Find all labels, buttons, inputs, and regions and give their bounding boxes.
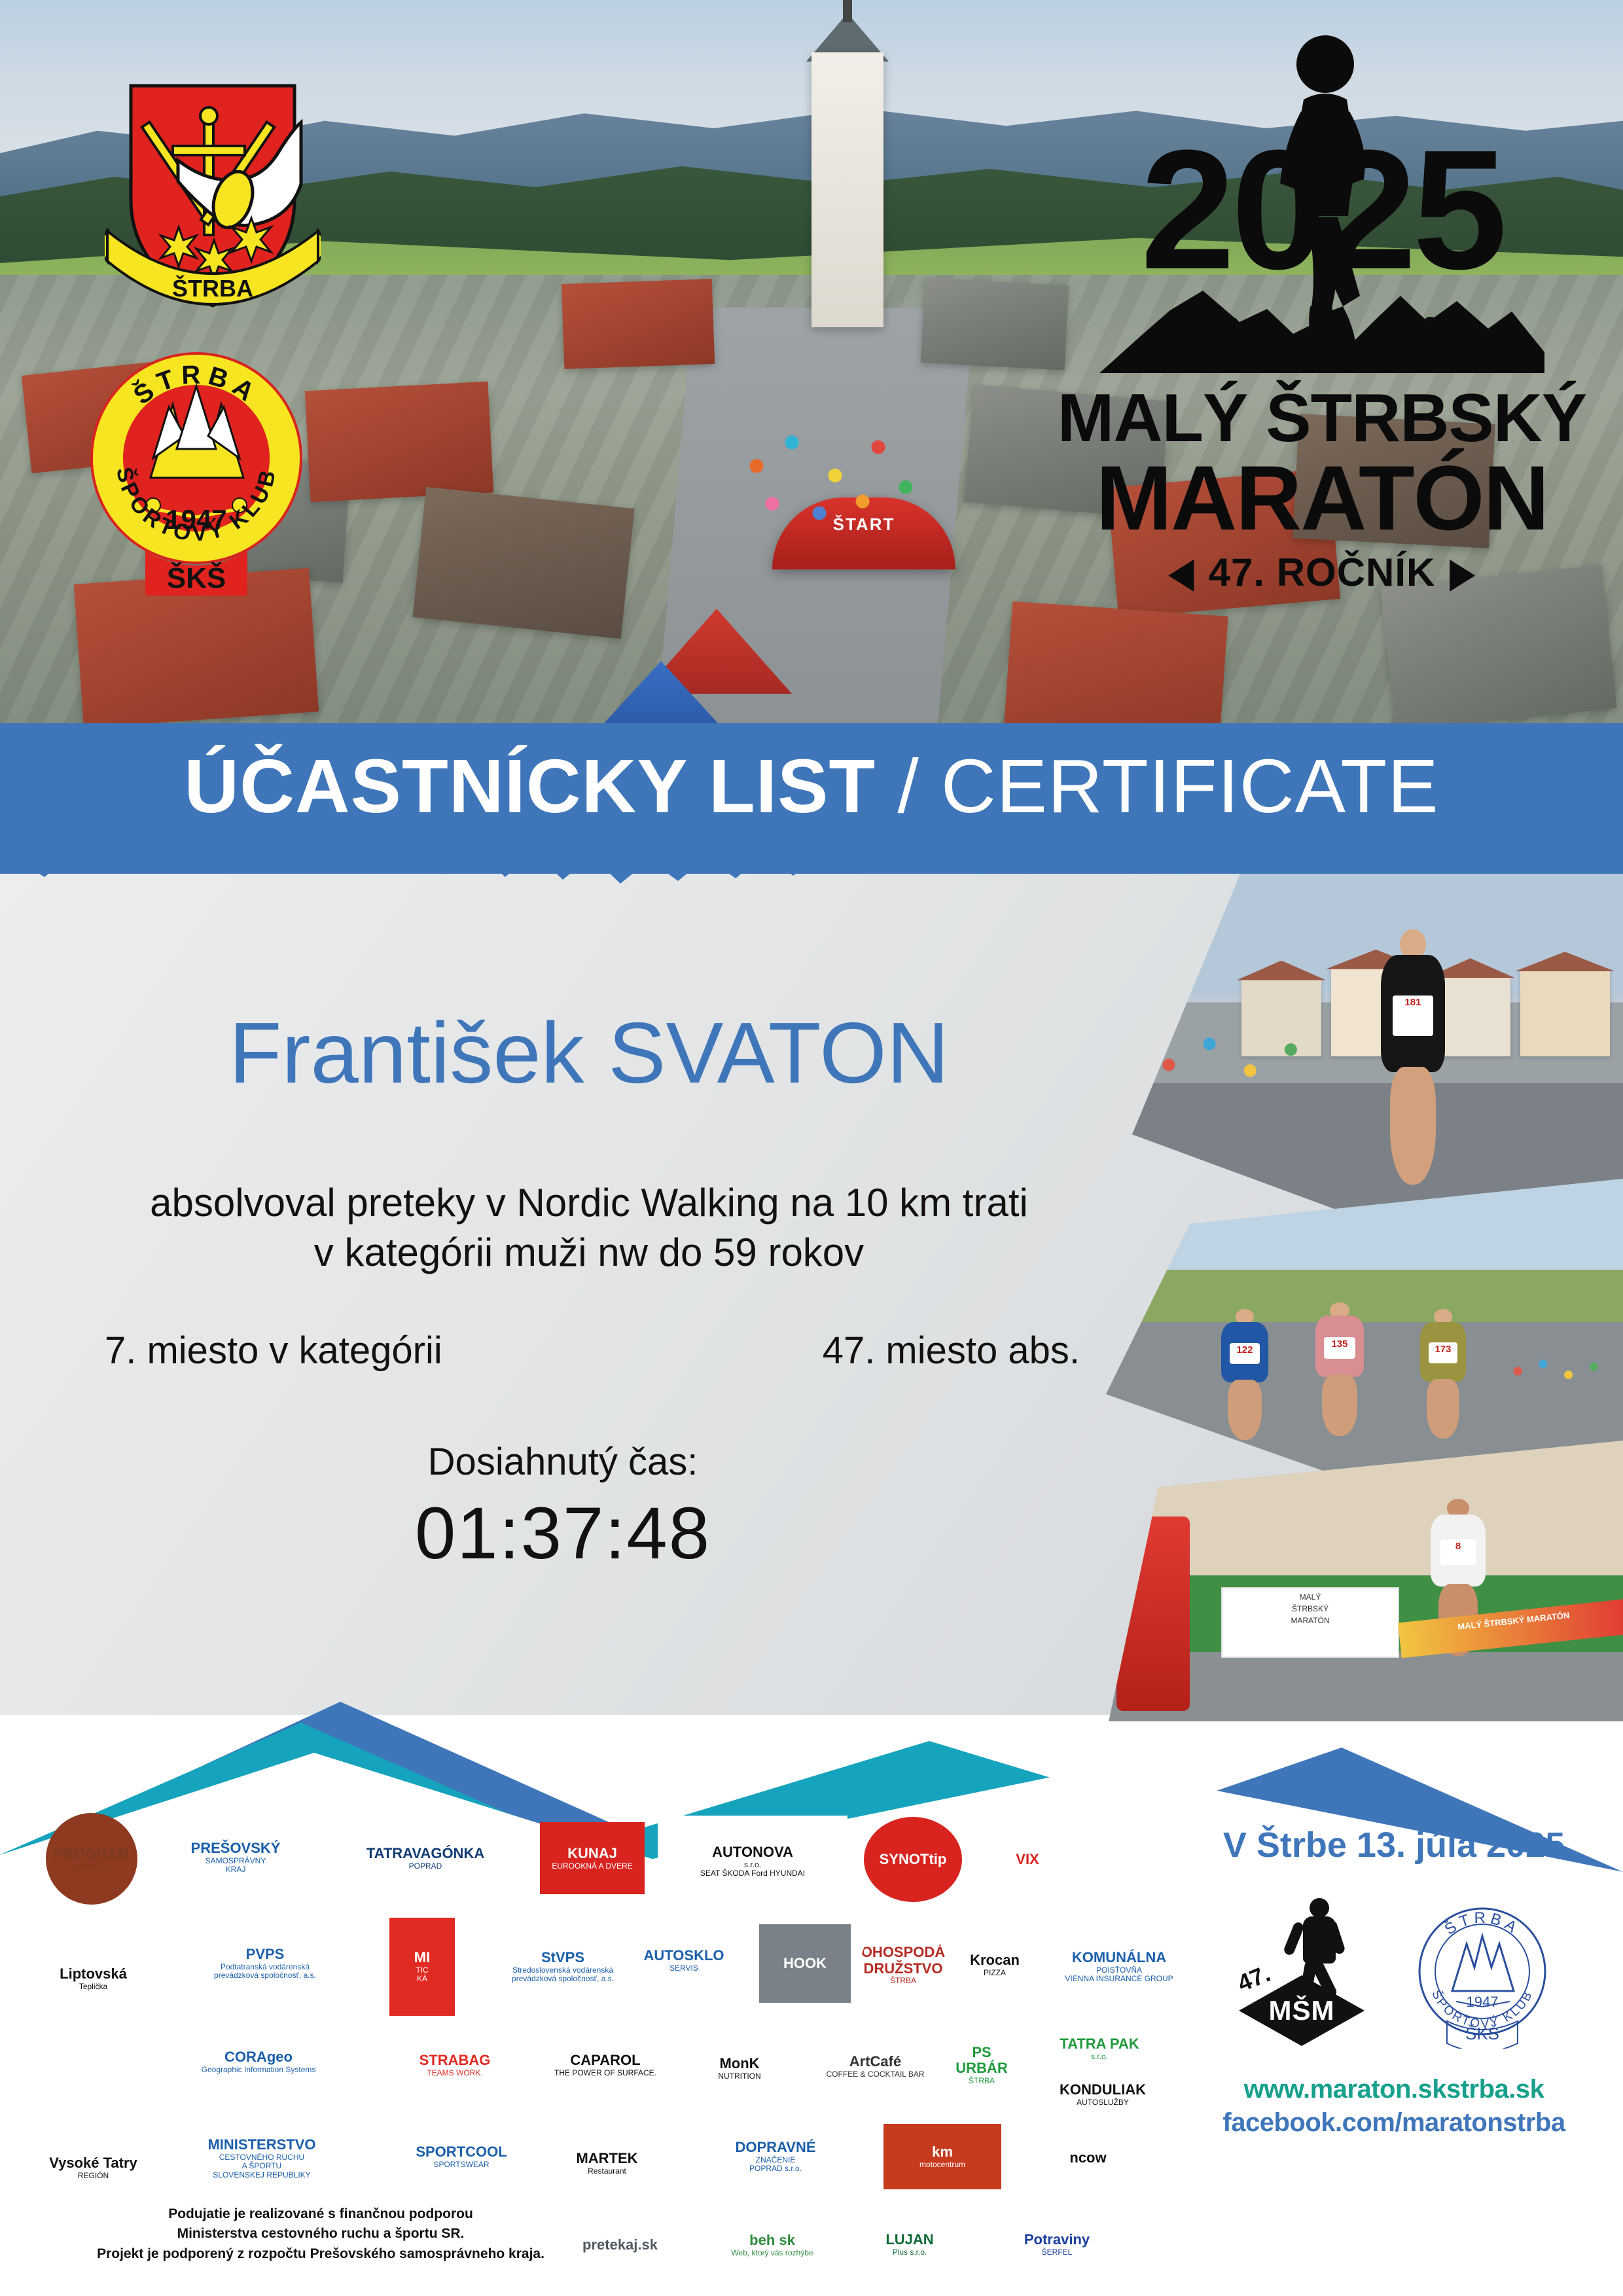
certificate-page: ŠTRBA 1947 ŠTRBA ŠPORTOVÝ KLUB ŠKŠ xyxy=(0,0,1623,2296)
sponsor-label-line: PIZZA xyxy=(970,1969,1020,1977)
photo2-runner-a: 122 xyxy=(1221,1309,1268,1440)
sponsor-label: KrocanPIZZA xyxy=(970,1952,1020,1977)
sponsor-logo-pretekaj-sk: pretekaj.sk xyxy=(550,2219,690,2271)
sponsor-logo-krocan-pizza: KrocanPIZZA xyxy=(952,1921,1037,2009)
sks-stamp-logo: 1947 ŠTRBA ŠPORTOVÝ KLUB ŠKŠ xyxy=(1410,1898,1554,2049)
finish-time-value: 01:37:48 xyxy=(79,1491,1047,1575)
photo3-banner-line3: MARATÓN xyxy=(1222,1615,1398,1626)
event-place-date: V Štrbe 13. júla 2025 xyxy=(1185,1825,1603,1865)
sponsor-label-line: MI xyxy=(414,1950,430,1966)
sponsor-label-line: motocentrum xyxy=(919,2161,965,2169)
sport-club-abbr: ŠKŠ xyxy=(167,561,226,594)
sponsor-label: PREŠOVSKÝSAMOSPRÁVNYKRAJ xyxy=(191,1840,281,1874)
sponsor-label: TATRA PAKs.r.o. xyxy=(1060,2036,1139,2061)
sponsor-label-line: STRABAG xyxy=(419,2053,491,2069)
sponsor-label-line: DOPRAVNÉ xyxy=(735,2140,815,2156)
sponsor-logo-ps-urbar-strba: PS URBÁRŠTRBA xyxy=(946,2022,1018,2108)
sponsor-label-line: POPRAD xyxy=(366,1862,484,1871)
sponsor-label: MonKNUTRITION xyxy=(718,2056,760,2081)
sponsor-logo-pd-strba: POĽNOHOSPODÁRSKE DRUŽSTVOŠTRBA xyxy=(861,1921,946,2009)
photo1-spectators xyxy=(1152,1017,1321,1113)
sponsor-label-line: Podtatranská vodárenská xyxy=(214,1963,316,1971)
sponsor-label-line: SAMOSPRÁVNY xyxy=(191,1857,281,1865)
photo3-banner-line2: ŠTRBSKÝ xyxy=(1222,1603,1398,1615)
sponsor-logo-program-trencin: PROGRAMTRENČÍN xyxy=(46,1813,137,1905)
sponsor-logo-tatrapak: TATRA PAKs.r.o. xyxy=(1034,2026,1165,2072)
sponsor-logo-presovsky-kraj: PREŠOVSKÝSAMOSPRÁVNYKRAJ xyxy=(154,1818,317,1897)
sponsor-logo-vix: VIX xyxy=(975,1817,1080,1902)
sponsor-logo-potraviny-serfel: PotravinyŠERFEL xyxy=(982,2214,1132,2276)
footer-right-column: V Štrbe 13. júla 2025 47. MŠM xyxy=(1185,1813,1603,2238)
sponsor-label-line: AUTONOVA xyxy=(700,1844,805,1861)
sponsor-label-line: PS URBÁR xyxy=(946,2045,1018,2077)
certificate-title-en: CERTIFICATE xyxy=(941,744,1439,829)
sponsor-label-line: pretekaj.sk xyxy=(582,2237,658,2253)
sponsor-label-line: SERVIS xyxy=(643,1964,724,1973)
sponsor-label: MITICKÁ xyxy=(414,1950,430,1984)
disclaimer-line2: Ministerstva cestovného ruchu a športu S… xyxy=(92,2224,550,2244)
sponsor-logo-martek-restaurant: MARTEKRestaurant xyxy=(550,2117,664,2209)
sponsor-label-line: KUNAJ xyxy=(552,1846,632,1862)
sponsor-label-line: KRAJ xyxy=(191,1865,281,1874)
sponsor-label: SPORTCOOLSPORTSWEAR xyxy=(416,2144,507,2169)
category-place: 7. miesto v kategórii xyxy=(105,1329,442,1372)
sponsor-label: VIX xyxy=(1016,1852,1039,1868)
sponsor-label-line: NUTRITION xyxy=(718,2072,760,2081)
sponsor-label: MARTEKRestaurant xyxy=(576,2151,637,2176)
sponsor-label-line: AUTOSKLO xyxy=(643,1948,724,1964)
sponsor-label-line: KÁ xyxy=(414,1975,430,1983)
sponsor-label: PVPSPodtatranská vodárenskáprevádzková s… xyxy=(214,1946,316,1981)
sponsor-label: DOPRAVNÉZNAČENIEPOPRAD s.r.o. xyxy=(735,2140,815,2174)
sponsor-label: AUTOSKLOSERVIS xyxy=(643,1948,724,1973)
sponsor-label-line: TEAMS WORK. xyxy=(419,2069,491,2077)
sponsor-label-line: ŠTRBA xyxy=(861,1977,946,1985)
sponsor-label-line: AUTOSLUŽBY xyxy=(1060,2098,1146,2107)
sponsor-label-line: THE POWER OF SURFACE. xyxy=(554,2069,656,2077)
hero-roof xyxy=(1003,601,1228,740)
sponsor-logo-liptovska-teplicka: LiptovskáTeplička xyxy=(46,1916,141,2041)
event-facebook[interactable]: facebook.com/maratonstrba xyxy=(1185,2108,1603,2138)
event-website[interactable]: www.maraton.skstrba.sk xyxy=(1185,2075,1603,2104)
event-name-line2: MARATÓN xyxy=(1054,445,1590,551)
sponsor-logo-miticka: MITICKÁ xyxy=(389,1918,455,2016)
sks-abbr: ŠKŠ xyxy=(1465,2024,1499,2043)
sponsor-logo-autonova: AUTONOVAs.r.o.SEAT ŠKODA Ford HYUNDAI xyxy=(658,1816,847,1907)
sponsor-label-line: TATRA PAK xyxy=(1060,2036,1139,2053)
strba-ribbon-label: ŠTRBA xyxy=(172,274,253,302)
sponsor-label-line: A ŠPORTU xyxy=(207,2162,315,2170)
certificate-description-line2: v kategórii muži nw do 59 rokov xyxy=(79,1228,1099,1278)
event-edition: ◀ 47. ROČNÍK ▶ xyxy=(1054,550,1590,596)
sponsor-label-line: SYNOTtip xyxy=(880,1852,947,1868)
photo3-banner-line1: MALÝ xyxy=(1222,1591,1398,1603)
sponsor-label-line: Liptovská xyxy=(60,1966,127,1982)
sponsor-logo-corageo: CORAgeoGeographic Information Systems xyxy=(154,2022,363,2101)
photo2-runner-c: 173 xyxy=(1420,1309,1466,1439)
msm-logo: 47. MŠM xyxy=(1234,1898,1371,2049)
sponsor-label-line: ArtCafé xyxy=(826,2054,924,2070)
sponsor-logo-pvps: PVPSPodtatranská vodárenskáprevádzková s… xyxy=(154,1924,376,2003)
sponsor-logo-kunaj: KUNAJEUROOKNÁ A DVERE xyxy=(540,1822,645,1894)
sponsor-logo-beh-sk: beh skWeb, ktorý vás rozhýbe xyxy=(707,2219,838,2271)
sponsor-label: LUJANPlus s.r.o. xyxy=(885,2232,933,2257)
sponsor-label: PotravinyŠERFEL xyxy=(1024,2232,1090,2257)
sponsor-label: ArtCaféCOFFEE & COCKTAIL BAR xyxy=(826,2054,924,2079)
sponsor-label-line: MINISTERSTVO xyxy=(207,2137,315,2153)
sponsor-label-line: LUJAN xyxy=(885,2232,933,2248)
sponsor-label-line: SPORTSWEAR xyxy=(416,2161,507,2169)
sponsor-label-line: KONDULIAK xyxy=(1060,2082,1146,2098)
sponsor-logo-ministerstvo-sr: MINISTERSTVOCESTOVNÉHO RUCHUA ŠPORTUSLOV… xyxy=(154,2114,370,2202)
sponsor-label: LiptovskáTeplička xyxy=(60,1966,127,1991)
sponsor-label-line: KOMUNÁLNA xyxy=(1065,1950,1173,1966)
finish-time-label: Dosiahnutý čas: xyxy=(79,1440,1047,1484)
hero-church-spire xyxy=(843,0,852,22)
sponsor-label: pretekaj.sk xyxy=(582,2237,658,2253)
sponsor-label: CAPAROLTHE POWER OF SURFACE. xyxy=(554,2053,656,2077)
absolute-place: 47. miesto abs. xyxy=(823,1329,1080,1372)
certificate-title: ÚČASTNÍCKY LIST / CERTIFICATE xyxy=(0,748,1623,824)
sponsor-label-line: POĽNOHOSPODÁRSKE DRUŽSTVO xyxy=(861,1945,946,1977)
sponsor-label-line: MonK xyxy=(718,2056,760,2072)
sponsor-label-line: Plus s.r.o. xyxy=(885,2248,933,2257)
disclaimer-line3: Projekt je podporený z rozpočtu Prešovsk… xyxy=(92,2244,550,2264)
photo-collage: 181 122 135 173 xyxy=(1106,870,1623,1721)
hero-roof xyxy=(562,279,715,369)
sponsor-logo-ncow: ncow xyxy=(1034,2127,1142,2189)
sponsor-label-line: ncow xyxy=(1069,2150,1106,2166)
hero-runner-crowd xyxy=(733,419,929,537)
sponsor-label-line: CORAgeo xyxy=(202,2049,316,2066)
strba-coat-of-arms: ŠTRBA xyxy=(105,62,321,324)
sponsor-logo-caparol: CAPAROLTHE POWER OF SURFACE. xyxy=(550,2026,661,2104)
sponsor-label-line: Restaurant xyxy=(576,2167,637,2176)
sponsor-label-line: SEAT ŠKODA Ford HYUNDAI xyxy=(700,1869,805,1878)
sponsor-label-line: MARTEK xyxy=(576,2151,637,2167)
sponsor-logo-lujan-plus: LUJANPlus s.r.o. xyxy=(854,2214,965,2276)
sponsor-label-line: prevádzková spoločnosť, a.s. xyxy=(512,1975,614,1983)
sks-year: 1947 xyxy=(1467,1994,1499,2010)
photo1-runner: 181 xyxy=(1381,929,1445,1185)
msm-edition-number: 47. xyxy=(1234,1960,1274,1998)
sponsor-logo-komunalna-poistovna: KOMUNÁLNAPOISŤOVŇAVIENNA INSURANCE GROUP xyxy=(1044,1931,1194,2003)
sponsor-label: SYNOTtip xyxy=(880,1852,947,1868)
sponsor-label-line: HOOK xyxy=(783,1956,827,1972)
sponsor-label-line: POPRAD s.r.o. xyxy=(735,2164,815,2173)
title-band-jagged-edge xyxy=(0,818,1623,903)
sponsor-label: TATRAVAGÓNKAPOPRAD xyxy=(366,1846,484,1871)
sponsor-label-line: ŠERFEL xyxy=(1024,2248,1090,2257)
sponsor-label-line: ŠTRBA xyxy=(946,2077,1018,2085)
disclaimer-line1: Podujatie je realizované s finančnou pod… xyxy=(92,2204,550,2224)
sponsor-label-line: PREŠOVSKÝ xyxy=(191,1840,281,1857)
sponsor-label: Vysoké TatryREGIÓN xyxy=(49,2155,137,2180)
sponsor-label-line: km xyxy=(919,2144,965,2161)
sponsor-label-line: Krocan xyxy=(970,1952,1020,1969)
sponsor-label-line: beh sk xyxy=(731,2233,813,2249)
sponsor-logo-konduliak-autosluzby: KONDULIAKAUTOSLUŽBY xyxy=(1034,2072,1171,2117)
sponsor-logo-autosklo-servis: AUTOSKLOSERVIS xyxy=(622,1928,746,1993)
sponsor-label: KONDULIAKAUTOSLUŽBY xyxy=(1060,2082,1146,2107)
photo1-bib-number: 181 xyxy=(1393,996,1434,1036)
sponsor-label: PROGRAMTRENČÍN xyxy=(54,1846,130,1871)
sponsor-logo-tatravagonka-poprad: TATRAVAGÓNKAPOPRAD xyxy=(330,1822,520,1894)
sponsor-logo-dopravne-znacenie-poprad: DOPRAVNÉZNAČENIEPOPRAD s.r.o. xyxy=(687,2127,864,2186)
sponsor-logo-artcafe: ArtCaféCOFFEE & COCKTAIL BAR xyxy=(818,2026,933,2108)
hero-roof xyxy=(921,278,1069,370)
photo2-distant-pack xyxy=(1504,1348,1619,1394)
sponsor-label-line: Teplička xyxy=(60,1982,127,1991)
sponsor-label-line: ZNAČENIE xyxy=(735,2156,815,2164)
sponsor-label-line: EUROOKNÁ A DVERE xyxy=(552,1862,632,1871)
sponsor-logo-km-motocentrum: kmmotocentrum xyxy=(883,2124,1001,2189)
sponsor-label-line: SPORTCOOL xyxy=(416,2144,507,2161)
sponsor-label-line: PROGRAM xyxy=(54,1846,130,1863)
certificate-title-separator: / xyxy=(876,744,941,829)
sponsor-label-line: TATRAVAGÓNKA xyxy=(366,1846,484,1862)
sponsor-label-line: REGIÓN xyxy=(49,2172,137,2180)
photo-finisher-celebrating: 181 xyxy=(1132,870,1623,1237)
sponsor-label: HOOK xyxy=(783,1956,827,1972)
sponsor-label-line: Stredoslovenská vodárenská xyxy=(512,1966,614,1975)
sponsor-label-line: SLOVENSKEJ REPUBLIKY xyxy=(207,2171,315,2179)
photo3-bib-number: 8 xyxy=(1440,1539,1476,1564)
hero-roof xyxy=(305,382,494,502)
participant-name: František SVATON xyxy=(79,1008,1099,1099)
sponsor-label-line: CAPAROL xyxy=(554,2053,656,2069)
sponsor-label-line: VIENNA INSURANCE GROUP xyxy=(1065,1975,1173,1983)
photo2-bib-a: 122 xyxy=(1230,1343,1260,1364)
sponsor-label: KOMUNÁLNAPOISŤOVŇAVIENNA INSURANCE GROUP xyxy=(1065,1950,1173,1984)
sponsor-label: KUNAJEUROOKNÁ A DVERE xyxy=(552,1846,632,1871)
sponsor-label: CORAgeoGeographic Information Systems xyxy=(202,2049,316,2074)
funding-disclaimer: Podujatie je realizované s finančnou pod… xyxy=(92,2204,550,2264)
photo2-meadow xyxy=(1106,1270,1623,1329)
sponsor-label: POĽNOHOSPODÁRSKE DRUŽSTVOŠTRBA xyxy=(861,1945,946,1986)
sponsor-label-line: s.r.o. xyxy=(1060,2053,1139,2061)
sponsor-label: kmmotocentrum xyxy=(919,2144,965,2169)
sponsor-label-line: prevádzková spoločnosť, a.s. xyxy=(214,1971,316,1980)
sponsor-label-line: PVPS xyxy=(214,1946,316,1963)
photo2-bib-c: 173 xyxy=(1429,1342,1458,1363)
certificate-title-sk: ÚČASTNÍCKY LIST xyxy=(184,744,876,829)
photo3-event-banner: MALÝ ŠTRBSKÝ MARATÓN xyxy=(1221,1587,1399,1658)
sponsor-label: AUTONOVAs.r.o.SEAT ŠKODA Ford HYUNDAI xyxy=(700,1844,805,1878)
hero-church-tower xyxy=(811,52,883,327)
sponsor-logo-monk-nutrition: MonKNUTRITION xyxy=(677,2036,802,2101)
sponsor-label: MINISTERSTVOCESTOVNÉHO RUCHUA ŠPORTUSLOV… xyxy=(207,2137,315,2179)
sponsor-logo-synottip: SYNOTtip xyxy=(864,1817,962,1902)
sponsor-label-line: VIX xyxy=(1016,1852,1039,1868)
certificate-description-line1: absolvoval preteky v Nordic Walking na 1… xyxy=(79,1178,1099,1229)
sponsor-label-line: Geographic Information Systems xyxy=(202,2066,316,2074)
sponsor-label: PS URBÁRŠTRBA xyxy=(946,2045,1018,2086)
hero-roof xyxy=(412,487,634,639)
sponsor-logo-grid: PROGRAMTRENČÍNPREŠOVSKÝSAMOSPRÁVNYKRAJTA… xyxy=(33,1813,1185,2232)
sponsor-label: StVPSStredoslovenská vodárenskáprevádzko… xyxy=(512,1950,614,1984)
photo2-bib-b: 135 xyxy=(1324,1337,1355,1359)
sport-club-emblem: 1947 ŠTRBA ŠPORTOVÝ KLUB ŠKŠ xyxy=(85,321,308,596)
sponsor-logo-strabag: STRABAGTEAMS WORK. xyxy=(380,2029,530,2101)
placement-row: 7. miesto v kategórii 47. miesto abs. xyxy=(79,1329,1106,1372)
sponsor-label-line: StVPS xyxy=(512,1950,614,1966)
sponsor-label-line: TRENČÍN xyxy=(54,1863,130,1871)
sponsor-label: STRABAGTEAMS WORK. xyxy=(419,2053,491,2077)
footer-emblems: 47. MŠM 1947 ŠTRBA ŠPORTOVÝ KLUB xyxy=(1185,1898,1603,2049)
sponsor-label-line: Vysoké Tatry xyxy=(49,2155,137,2172)
sponsor-label-line: POISŤOVŇA xyxy=(1065,1966,1173,1975)
event-year: 2025 xyxy=(1054,137,1590,284)
sponsor-label: ncow xyxy=(1069,2150,1106,2166)
sponsor-label: beh skWeb, ktorý vás rozhýbe xyxy=(731,2233,813,2257)
sponsor-label-line: Web, ktorý vás rozhýbe xyxy=(731,2249,813,2257)
sponsor-logo-hook: HOOK xyxy=(759,1924,851,2003)
sponsor-label-line: Potraviny xyxy=(1024,2232,1090,2248)
photo2-runner-b: 135 xyxy=(1315,1302,1364,1436)
event-title-graphic: 2025 31 km 10 km MALÝ ŠTRBSKÝ MARATÓN ◀ … xyxy=(1054,26,1590,615)
sponsor-label-line: COFFEE & COCKTAIL BAR xyxy=(826,2070,924,2079)
event-edition-text: 47. ROČNÍK xyxy=(1209,550,1436,594)
sponsor-logo-sportcool: SPORTCOOLSPORTSWEAR xyxy=(389,2121,533,2193)
